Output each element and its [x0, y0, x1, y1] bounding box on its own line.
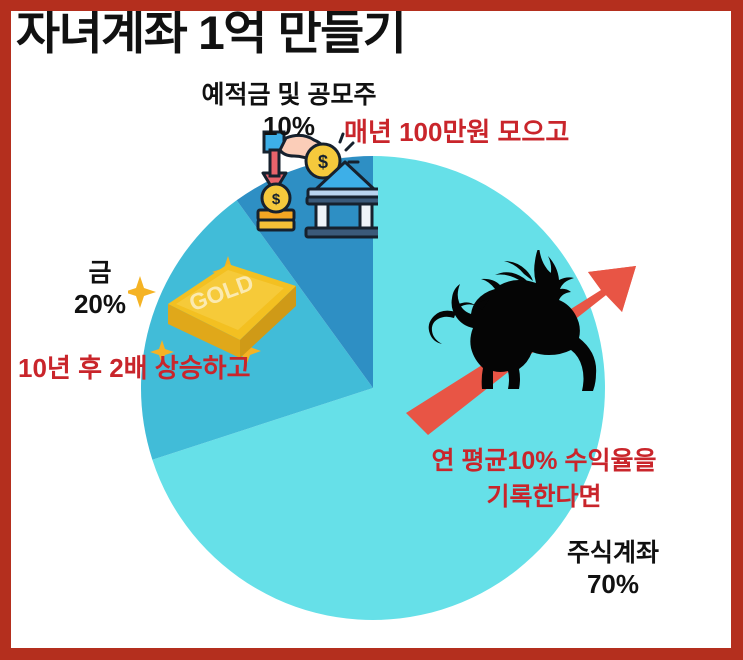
label-savings-name: 예적금 및 공모주: [202, 81, 377, 109]
label-gold-name: 금: [88, 259, 111, 287]
infographic-poster: 자녀계좌 1억 만들기 $ $: [0, 0, 743, 660]
page-title: 자녀계좌 1억 만들기: [16, 8, 405, 57]
svg-text:$: $: [318, 152, 328, 172]
annotation-savings: 매년 100만원 모으고: [344, 112, 569, 149]
frame-border-bottom: [0, 648, 743, 660]
label-gold-pct: 20%: [62, 289, 138, 321]
frame-border-right: [731, 0, 743, 660]
annotation-stock-line1: 연 평균10% 수익율을: [396, 443, 692, 479]
frame-border-left: [0, 0, 11, 660]
label-stock: 주식계좌 70%: [540, 538, 686, 600]
label-gold: 금 20%: [62, 258, 138, 320]
label-stock-pct: 70%: [540, 569, 686, 601]
annotation-stock: 연 평균10% 수익율을 기록한다면: [396, 443, 692, 516]
annotation-gold: 10년 후 2배 상승하고: [18, 348, 251, 385]
bull-market-arrow-icon: [398, 250, 650, 440]
frame-border-top: [0, 0, 743, 11]
svg-text:$: $: [272, 191, 281, 208]
label-stock-name: 주식계좌: [567, 539, 659, 567]
annotation-stock-line2: 기록한다면: [396, 479, 692, 515]
